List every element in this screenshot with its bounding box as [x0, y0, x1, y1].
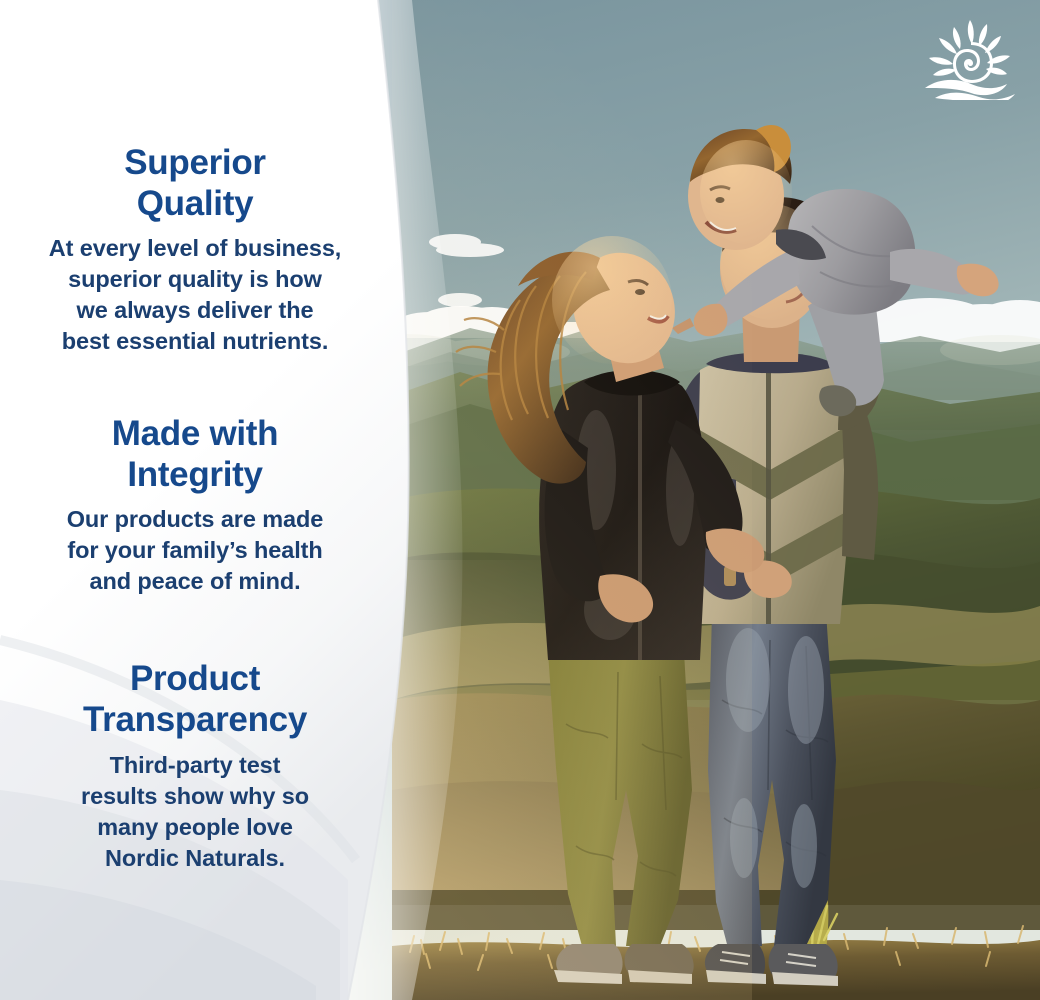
- benefit-body-made-with-integrity: Our products are made for your family’s …: [30, 504, 360, 597]
- heading-line: Transparency: [83, 700, 307, 739]
- sun-waves-logo-icon: [921, 18, 1021, 100]
- body-line: superior quality is how: [68, 266, 322, 292]
- body-line: Our products are made: [67, 506, 323, 532]
- body-line: At every level of business,: [49, 235, 342, 261]
- benefits-copy: Superior Quality At every level of busin…: [0, 0, 400, 1000]
- body-line: best essential nutrients.: [62, 328, 329, 354]
- benefit-block-product-transparency: Product Transparency Third-party test re…: [30, 659, 360, 873]
- heading-line: Superior: [124, 143, 266, 182]
- heading-line: Quality: [137, 184, 254, 223]
- promo-banner: Superior Quality At every level of busin…: [0, 0, 1040, 1000]
- body-line: for your family’s health: [67, 537, 322, 563]
- body-line: we always deliver the: [77, 297, 314, 323]
- heading-line: Product: [130, 659, 260, 698]
- benefit-body-product-transparency: Third-party test results show why so man…: [30, 750, 360, 874]
- body-line: results show why so: [81, 783, 309, 809]
- body-line: Nordic Naturals.: [105, 845, 285, 871]
- benefit-block-superior-quality: Superior Quality At every level of busin…: [30, 143, 360, 357]
- body-line: many people love: [97, 814, 293, 840]
- benefit-heading-product-transparency: Product Transparency: [30, 659, 360, 740]
- benefit-block-made-with-integrity: Made with Integrity Our products are mad…: [30, 414, 360, 597]
- benefit-body-superior-quality: At every level of business, superior qua…: [30, 233, 360, 357]
- benefit-heading-superior-quality: Superior Quality: [30, 143, 360, 224]
- heading-line: Integrity: [127, 455, 262, 494]
- body-line: Third-party test: [110, 752, 281, 778]
- benefit-heading-made-with-integrity: Made with Integrity: [30, 414, 360, 495]
- heading-line: Made with: [112, 414, 278, 453]
- body-line: and peace of mind.: [89, 568, 300, 594]
